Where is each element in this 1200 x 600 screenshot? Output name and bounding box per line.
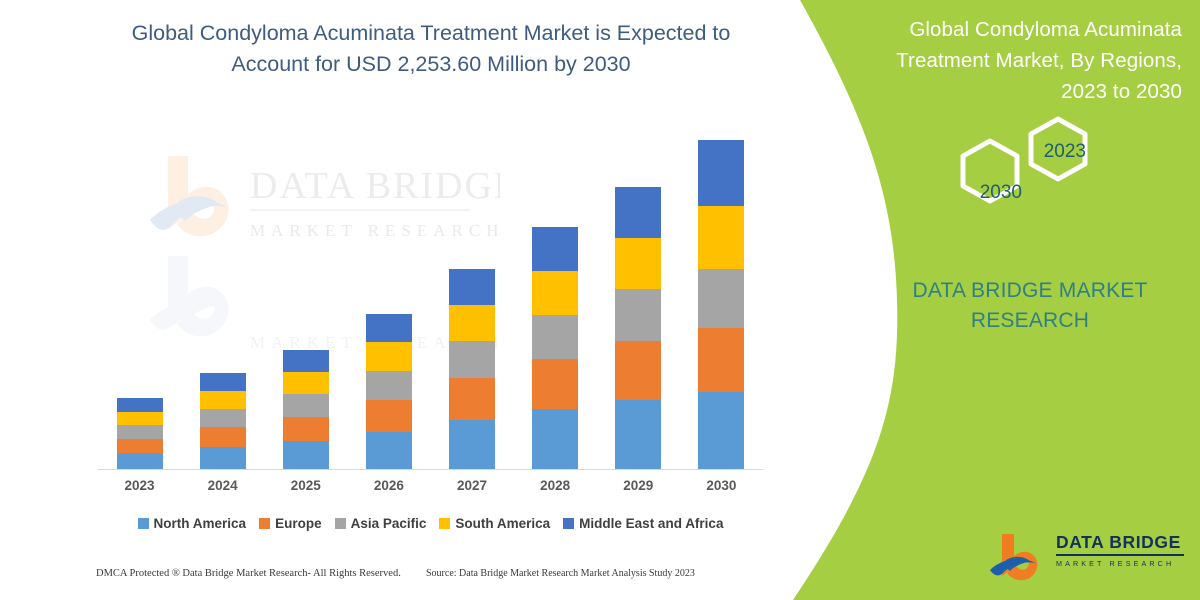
- hex-2030-label: 2030: [980, 182, 1022, 204]
- panel-brand-text: DATA BRIDGE MARKET RESEARCH: [880, 276, 1180, 336]
- bar-segment: [698, 206, 744, 269]
- bar-segment: [532, 227, 578, 271]
- legend-swatch-icon: [138, 518, 149, 529]
- bar-segment: [449, 269, 495, 305]
- x-axis-label-2030: 2030: [682, 478, 760, 498]
- bar-segment: [366, 314, 412, 343]
- hexagon-badges: [935, 108, 1125, 228]
- bar-segment: [200, 373, 246, 391]
- footer: DMCA Protected ® Data Bridge Market Rese…: [60, 568, 780, 586]
- bar-segment: [283, 417, 329, 441]
- stacked-bar: [117, 398, 163, 470]
- bar-segment: [366, 432, 412, 470]
- bar-column-2028: [516, 140, 594, 470]
- bar-segment: [200, 447, 246, 470]
- logo-main-text: DATA BRIDGE: [1056, 532, 1188, 552]
- panel-brand-line-1: DATA BRIDGE MARKET: [880, 276, 1180, 306]
- x-axis-label-2024: 2024: [184, 478, 262, 498]
- legend-item-middle-east-and-africa[interactable]: Middle East and Africa: [563, 516, 723, 531]
- bar-segment: [200, 427, 246, 446]
- legend-swatch-icon: [439, 518, 450, 529]
- infographic-canvas: Global Condyloma Acuminata Treatment Mar…: [0, 0, 1200, 600]
- x-axis-label-2028: 2028: [516, 478, 594, 498]
- bar-segment: [449, 305, 495, 341]
- bar-segment: [615, 187, 661, 238]
- bar-column-2030: [682, 140, 760, 470]
- bar-segment: [615, 289, 661, 341]
- legend-swatch-icon: [563, 518, 574, 529]
- bar-column-2025: [267, 140, 345, 470]
- stacked-bar: [283, 350, 329, 470]
- legend-label: Asia Pacific: [351, 516, 427, 531]
- bar-segment: [200, 391, 246, 409]
- legend-item-europe[interactable]: Europe: [259, 516, 322, 531]
- hex-2023-label: 2023: [1044, 141, 1086, 163]
- data-bridge-logo-mark: [988, 530, 1052, 584]
- bar-segment: [698, 269, 744, 329]
- stacked-bar: [698, 140, 744, 470]
- bar-segment: [698, 140, 744, 206]
- bar-column-2023: [101, 140, 179, 470]
- bar-segment: [698, 392, 744, 470]
- bar-segment: [532, 359, 578, 409]
- stacked-bar: [449, 269, 495, 470]
- bar-segment: [532, 271, 578, 315]
- chart-legend: North AmericaEuropeAsia PacificSouth Ame…: [98, 512, 763, 534]
- logo-sub-text: MARKET RESEARCH: [1056, 559, 1188, 569]
- panel-heading: Global Condyloma Acuminata Treatment Mar…: [852, 14, 1182, 107]
- bar-segment: [117, 398, 163, 412]
- bar-segment: [283, 372, 329, 394]
- bar-segment: [117, 453, 163, 470]
- bar-column-2029: [599, 140, 677, 470]
- footer-source: Source: Data Bridge Market Research Mark…: [426, 568, 695, 579]
- bar-segment: [283, 441, 329, 470]
- bar-segment: [366, 342, 412, 371]
- bar-segment: [615, 400, 661, 470]
- stacked-bar: [615, 187, 661, 470]
- stacked-bar: [366, 314, 412, 470]
- legend-label: Europe: [275, 516, 322, 531]
- bar-segment: [200, 409, 246, 427]
- bar-segment: [532, 315, 578, 360]
- bar-segment: [283, 350, 329, 372]
- x-axis-label-2029: 2029: [599, 478, 677, 498]
- legend-swatch-icon: [259, 518, 270, 529]
- x-axis-label-2025: 2025: [267, 478, 345, 498]
- page-title: Global Condyloma Acuminata Treatment Mar…: [96, 18, 766, 80]
- x-axis-line: [98, 469, 763, 470]
- bar-segment: [449, 341, 495, 378]
- bar-column-2024: [184, 140, 262, 470]
- bar-segment: [615, 238, 661, 289]
- bar-segment: [698, 328, 744, 392]
- logo-divider: [1056, 554, 1184, 556]
- x-axis-label-2023: 2023: [101, 478, 179, 498]
- bar-segment: [449, 378, 495, 420]
- bar-segment: [117, 425, 163, 439]
- x-axis-label-2026: 2026: [350, 478, 428, 498]
- legend-label: North America: [154, 516, 247, 531]
- bar-segment: [615, 341, 661, 400]
- bar-segment: [449, 420, 495, 470]
- footer-copyright: DMCA Protected ® Data Bridge Market Rese…: [96, 568, 401, 579]
- bar-column-2026: [350, 140, 428, 470]
- bar-segment: [117, 439, 163, 453]
- bar-column-2027: [433, 140, 511, 470]
- panel-brand-line-2: RESEARCH: [880, 306, 1180, 336]
- legend-item-south-america[interactable]: South America: [439, 516, 550, 531]
- logo-wordmark: DATA BRIDGE MARKET RESEARCH: [1056, 532, 1188, 569]
- data-bridge-logo: DATA BRIDGE MARKET RESEARCH: [988, 530, 1188, 586]
- stacked-bar: [200, 373, 246, 470]
- bar-segment: [366, 400, 412, 432]
- legend-item-asia-pacific[interactable]: Asia Pacific: [335, 516, 427, 531]
- legend-item-north-america[interactable]: North America: [138, 516, 247, 531]
- green-panel-content: Global Condyloma Acuminata Treatment Mar…: [820, 0, 1200, 600]
- bar-chart-plot: [98, 140, 763, 470]
- bar-segment: [117, 412, 163, 426]
- bar-segment: [532, 409, 578, 470]
- stacked-bar: [532, 227, 578, 470]
- bar-group: [98, 140, 763, 470]
- legend-swatch-icon: [335, 518, 346, 529]
- bar-segment: [366, 371, 412, 400]
- x-axis-labels: 20232024202520262027202820292030: [98, 478, 763, 498]
- bar-segment: [283, 394, 329, 416]
- x-axis-label-2027: 2027: [433, 478, 511, 498]
- legend-label: South America: [455, 516, 550, 531]
- legend-label: Middle East and Africa: [579, 516, 723, 531]
